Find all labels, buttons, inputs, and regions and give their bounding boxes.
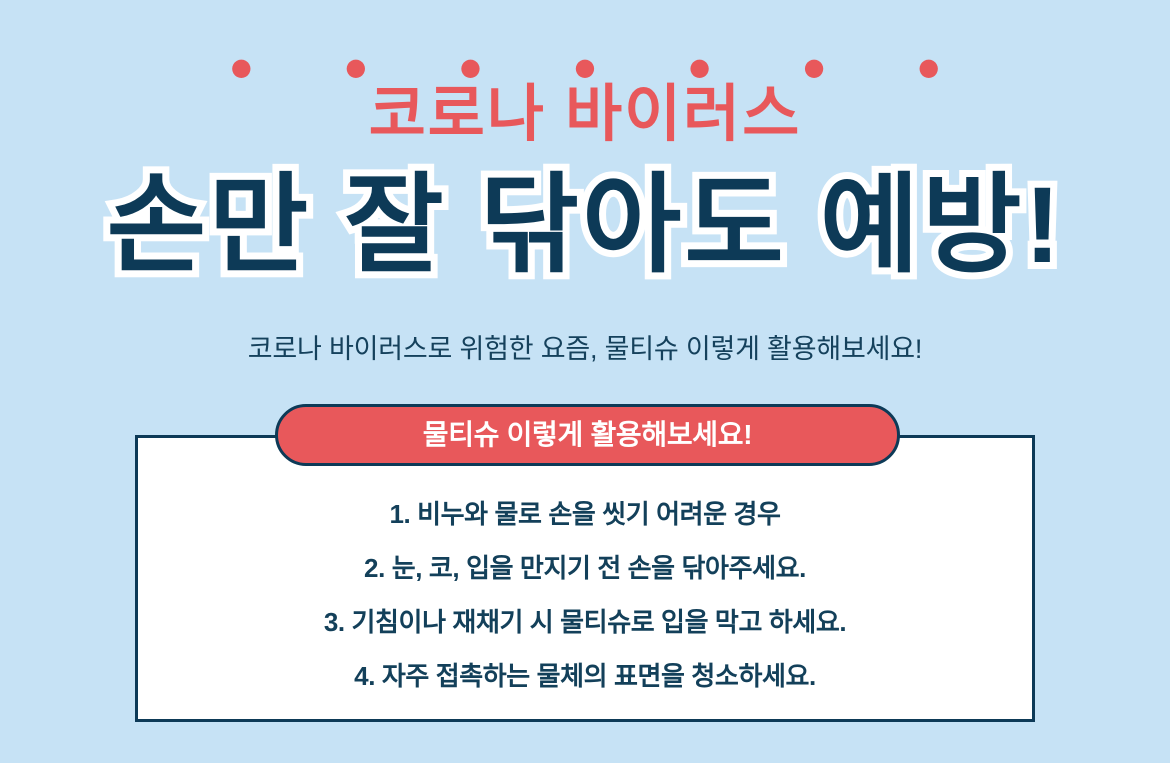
page-title: 손만 잘 닦아도 예방! (0, 163, 1170, 287)
list-item: 4. 자주 접촉하는 물체의 표면을 청소하세요. (354, 660, 816, 692)
decorative-dots: ● ● ● ● ● ● ● (0, 54, 1170, 80)
list-item: 1. 비누와 물로 손을 씻기 어려운 경우 (389, 498, 780, 530)
eyebrow-title: 코로나 바이러스 (0, 80, 1170, 150)
list-item: 3. 기침이나 재채기 시 물티슈로 입을 막고 하세요. (324, 606, 846, 638)
eyebrow-section: ● ● ● ● ● ● ● 코로나 바이러스 (0, 54, 1170, 150)
badge-label: 물티슈 이렇게 활용해보세요! (423, 421, 753, 449)
list-item: 2. 눈, 코, 입을 만지기 전 손을 닦아주세요. (364, 552, 806, 584)
poster-canvas: ● ● ● ● ● ● ● 코로나 바이러스 손만 잘 닦아도 예방! 코로나 … (0, 0, 1170, 763)
subtitle: 코로나 바이러스로 위험한 요즘, 물티슈 이렇게 활용해보세요! (0, 330, 1170, 368)
tips-list: 1. 비누와 물로 손을 씻기 어려운 경우 2. 눈, 코, 입을 만지기 전… (135, 468, 1035, 722)
tips-panel-badge: 물티슈 이렇게 활용해보세요! (275, 404, 900, 466)
